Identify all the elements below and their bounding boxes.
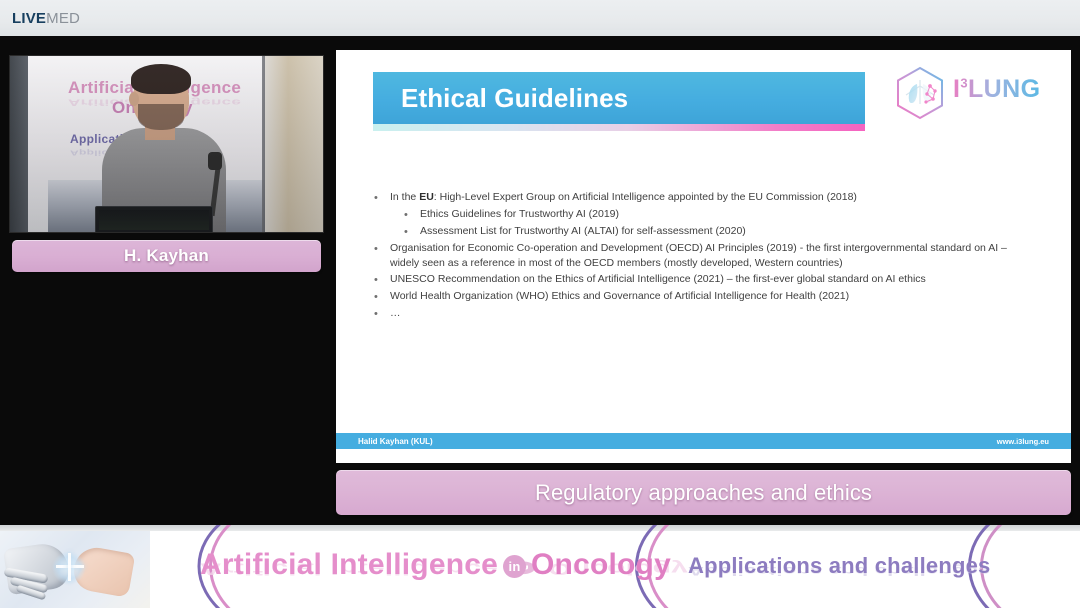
livemed-logo[interactable]: LIVEMED: [12, 10, 80, 27]
banner-title-part1: Artificial Intelligence: [200, 548, 498, 581]
bullet-item: •Organisation for Economic Co-operation …: [374, 241, 1034, 271]
banner-robot-human-hands-image: [0, 531, 150, 608]
bullet-marker-icon: •: [374, 289, 390, 305]
slide-bullet-list: •In the EU: High-Level Expert Group on A…: [374, 190, 1034, 323]
bullet-item: •Ethics Guidelines for Trustworthy AI (2…: [404, 207, 1034, 223]
bullet-text: Assessment List for Trustworthy AI (ALTA…: [420, 224, 746, 240]
brand-primary-text: LIVE: [12, 10, 46, 27]
slide-title-underline: [373, 124, 865, 131]
banner-in-badge: in: [503, 555, 526, 578]
app-top-bar: LIVEMED: [0, 0, 1080, 36]
bullet-marker-icon: •: [404, 207, 420, 223]
slide-title-bar: Ethical Guidelines: [373, 72, 865, 124]
slide-footer-website: www.i3lung.eu: [997, 437, 1049, 446]
bullet-marker-icon: •: [374, 190, 390, 206]
bullet-text: Organisation for Economic Co-operation a…: [390, 241, 1034, 271]
i3lung-suffix: LUNG: [968, 75, 1040, 103]
bullet-text: In the EU: High-Level Expert Group on Ar…: [390, 190, 857, 206]
speaker-name-badge: H. Kayhan: [12, 240, 321, 272]
bullet-marker-icon: •: [374, 241, 390, 271]
i3lung-logo: I3LUNG: [891, 64, 1043, 120]
slide-viewer[interactable]: Ethical Guidelines: [336, 50, 1071, 463]
banner-title: Artificial IntelligenceinOncology: [200, 548, 671, 582]
bullet-marker-icon: •: [404, 224, 420, 240]
i3lung-hexagon-icon: [891, 64, 949, 120]
bullet-text: World Health Organization (WHO) Ethics a…: [390, 289, 849, 305]
screen-root: LIVEMED Artificial Intelligence Artifici…: [0, 0, 1080, 608]
microphone-icon: [208, 152, 222, 170]
speaker-video-feed[interactable]: Artificial Intelligence Artificial Intel…: [10, 56, 323, 232]
bullet-text: UNESCO Recommendation on the Ethics of A…: [390, 272, 926, 288]
speaker-ear: [129, 92, 139, 106]
bullet-text: …: [390, 306, 401, 322]
speaker-name-label: H. Kayhan: [124, 246, 209, 266]
bullet-item: •…: [374, 306, 1034, 322]
banner-subtitle: Applications and challenges: [688, 553, 990, 579]
slide-footer-author: Halid Kayhan (KUL): [358, 437, 433, 446]
banner-title-part2: Oncology: [531, 548, 671, 581]
session-caption-label: Regulatory approaches and ethics: [535, 480, 872, 506]
session-caption-bar: Regulatory approaches and ethics: [336, 470, 1071, 515]
slide-footer-bar: Halid Kayhan (KUL) www.i3lung.eu: [336, 433, 1071, 449]
video-frame: Artificial Intelligence Artificial Intel…: [10, 56, 323, 232]
bullet-marker-icon: •: [374, 306, 390, 322]
slide-title: Ethical Guidelines: [401, 83, 628, 114]
speaker-beard: [138, 104, 184, 130]
bullet-item: •In the EU: High-Level Expert Group on A…: [374, 190, 1034, 206]
bullet-item: •UNESCO Recommendation on the Ethics of …: [374, 272, 1034, 288]
bullet-item: •Assessment List for Trustworthy AI (ALT…: [404, 224, 1034, 240]
i3lung-superscript: 3: [960, 76, 968, 91]
video-wall-left: [10, 56, 30, 232]
i3lung-wordmark: I3LUNG: [953, 75, 1040, 104]
bullet-marker-icon: •: [374, 272, 390, 288]
podium-laptop: [95, 206, 213, 232]
bullet-text: Ethics Guidelines for Trustworthy AI (20…: [420, 207, 619, 223]
spark-cross-vertical: [68, 553, 71, 581]
bullet-item: •World Health Organization (WHO) Ethics …: [374, 289, 1034, 305]
brand-secondary-text: MED: [46, 10, 80, 27]
video-wall-right: [265, 56, 323, 232]
speaker-hair: [131, 64, 191, 94]
